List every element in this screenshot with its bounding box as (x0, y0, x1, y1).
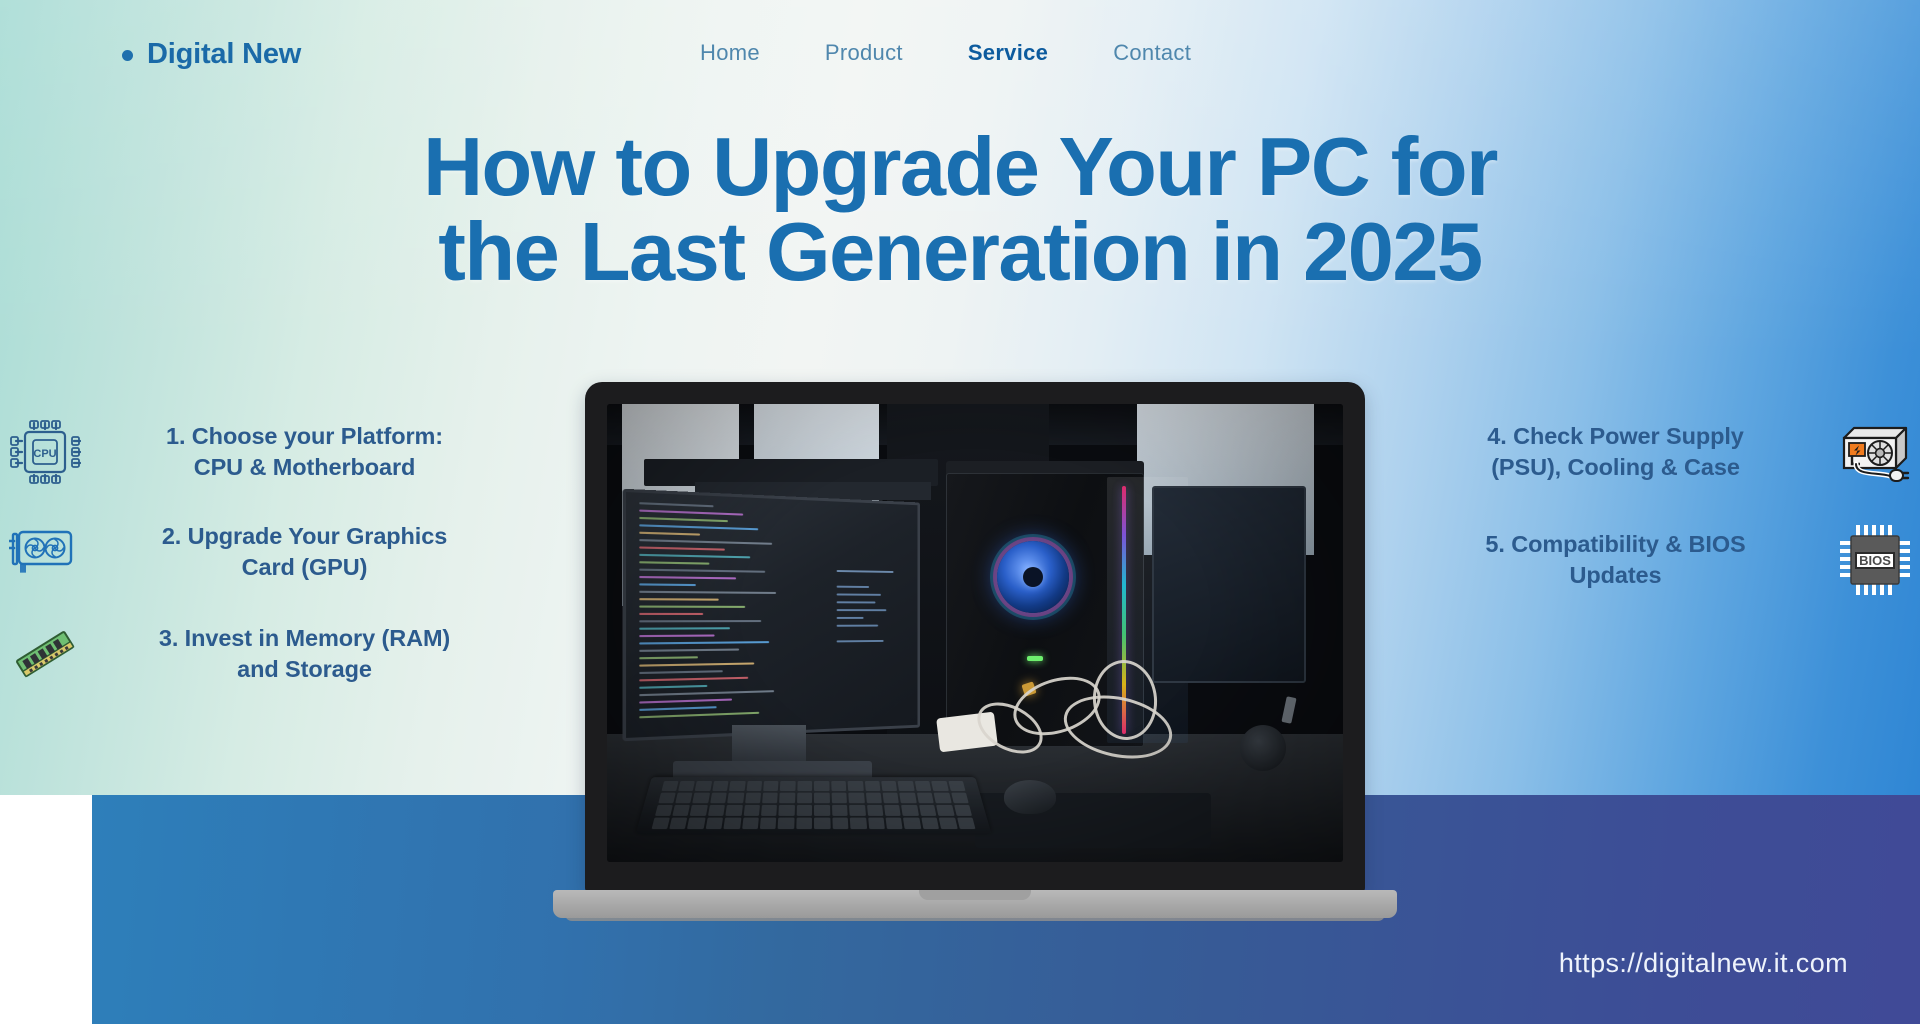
laptop-lid (585, 382, 1365, 892)
nav-item-product[interactable]: Product (825, 40, 903, 66)
workstation-photo (607, 404, 1343, 862)
feature-label-4: 4. Check Power Supply (PSU), Cooling & C… (1407, 421, 1824, 483)
site-url[interactable]: https://digitalnew.it.com (1559, 948, 1848, 979)
feature-item-2[interactable]: 2. Upgrade Your Graphics Card (GPU) (8, 515, 513, 589)
svg-text:CPU: CPU (33, 448, 56, 460)
feature-label-5: 5. Compatibility & BIOS Updates (1407, 529, 1824, 591)
feature-item-3[interactable]: 3. Invest in Memory (RAM) and Storage (8, 617, 513, 691)
laptop-notch (919, 890, 1031, 900)
feature-3-line-2: and Storage (237, 656, 372, 682)
feature-4-line-2: (PSU), Cooling & Case (1491, 454, 1740, 480)
page-title-line-1: How to Upgrade Your PC for (0, 125, 1920, 210)
nav-item-contact[interactable]: Contact (1113, 40, 1191, 66)
poster-canvas: Digital New Home Product Service Contact… (0, 0, 1920, 1024)
graphics-card-icon (8, 515, 82, 589)
feature-label-1: 1. Choose your Platform: CPU & Motherboa… (96, 421, 513, 483)
brand-logo[interactable]: Digital New (122, 38, 301, 71)
feature-2-line-1: 2. Upgrade Your Graphics (162, 523, 447, 549)
svg-text:BIOS: BIOS (1859, 553, 1891, 568)
feature-item-1[interactable]: CPU 1. Choose your Platform: CPU & Mothe… (8, 415, 513, 489)
feature-1-line-2: CPU & Motherboard (194, 454, 416, 480)
site-header: Digital New Home Product Service Contact (0, 0, 1920, 100)
feature-list-left: CPU 1. Choose your Platform: CPU & Mothe… (8, 415, 513, 713)
nav-item-home[interactable]: Home (700, 40, 760, 66)
bios-chip-icon: BIOS (1838, 523, 1912, 597)
feature-5-line-1: 5. Compatibility & BIOS (1485, 531, 1745, 557)
nav-item-service[interactable]: Service (968, 40, 1048, 66)
cpu-chip-icon: CPU (8, 415, 82, 489)
feature-list-right: 4. Check Power Supply (PSU), Cooling & C… (1407, 415, 1912, 619)
page-title-line-2: the Last Generation in 2025 (0, 210, 1920, 295)
bottom-white-notch (0, 795, 92, 1024)
feature-label-2: 2. Upgrade Your Graphics Card (GPU) (96, 521, 513, 583)
feature-label-3: 3. Invest in Memory (RAM) and Storage (96, 623, 513, 685)
laptop-mockup (585, 382, 1365, 912)
bullet-dot-icon (122, 50, 133, 61)
main-navigation: Home Product Service Contact (700, 40, 1191, 66)
feature-item-4[interactable]: 4. Check Power Supply (PSU), Cooling & C… (1407, 415, 1912, 489)
feature-5-line-2: Updates (1569, 562, 1661, 588)
power-supply-icon (1838, 415, 1912, 489)
feature-3-line-1: 3. Invest in Memory (RAM) (159, 625, 450, 651)
page-title: How to Upgrade Your PC for the Last Gene… (0, 125, 1920, 294)
feature-2-line-2: Card (GPU) (242, 554, 368, 580)
feature-1-line-1: 1. Choose your Platform: (166, 423, 443, 449)
feature-4-line-1: 4. Check Power Supply (1487, 423, 1743, 449)
brand-name: Digital New (147, 38, 301, 71)
laptop-screen[interactable] (607, 404, 1343, 862)
ram-stick-icon (8, 617, 82, 691)
feature-item-5[interactable]: 5. Compatibility & BIOS Updates (1407, 523, 1912, 597)
